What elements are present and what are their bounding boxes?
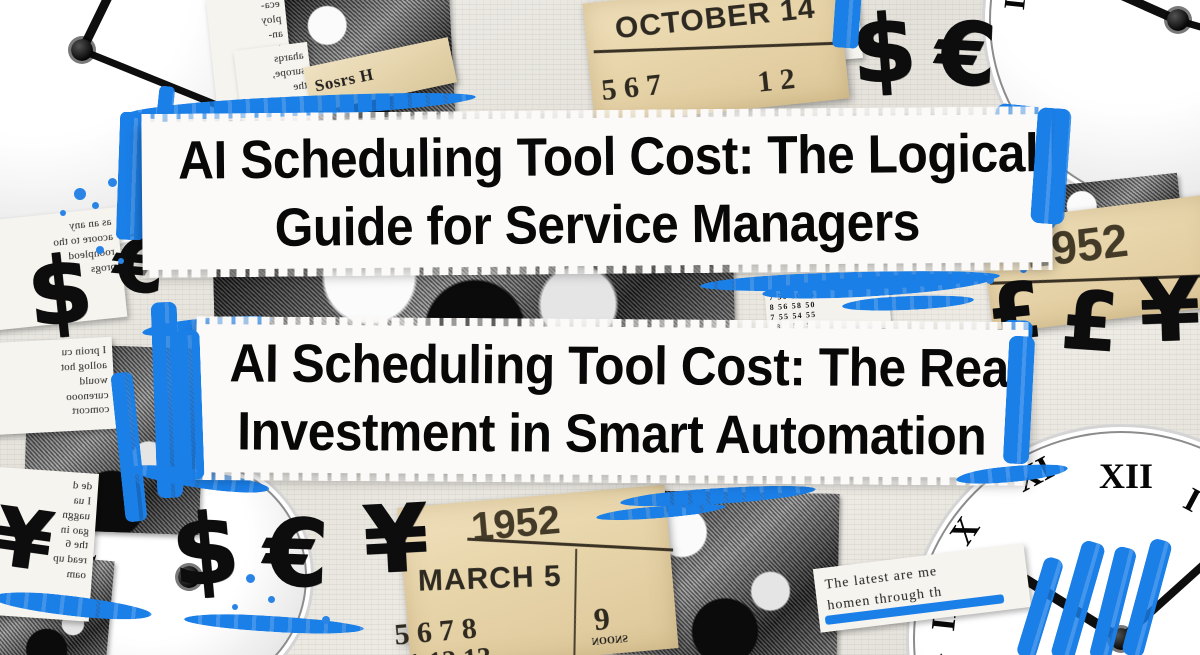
headline-secondary-line-2: Investment in Smart Automation: [229, 392, 995, 465]
pound-icon-right-b: £: [1059, 280, 1120, 364]
euro-icon-top-right: €: [934, 10, 998, 99]
headline-primary-line-1: AI Scheduling Tool Cost: The Logical: [178, 114, 1016, 189]
yen-icon-right: ¥: [1139, 267, 1200, 355]
headline-banner-secondary: AI Scheduling Tool Cost: The Real Invest…: [195, 324, 1028, 478]
paint-splatter: [118, 258, 124, 264]
clipping-left-col-b: I proin cu aollog hot would curenooo com…: [0, 337, 116, 435]
clock-center-hub: [71, 39, 93, 61]
clipping-text: I proin cu aollog hot would curenooo com…: [0, 343, 110, 423]
paint-splatter: [246, 574, 255, 583]
calendar-divider: [573, 549, 577, 655]
dollar-icon-bottom-left: $: [168, 499, 243, 600]
paint-splatter: [74, 188, 86, 200]
headline-banner-primary: AI Scheduling Tool Cost: The Logical Gui…: [141, 114, 1052, 270]
calendar-month-label: MARCH 5: [417, 560, 562, 599]
calendar-numbers-right: 1 2: [756, 62, 797, 100]
euro-icon-bottom-left: €: [262, 507, 329, 601]
paint-splatter: [322, 616, 330, 624]
paint-splatter: [60, 210, 66, 216]
collage-canvas: XII I II III IX X XI IIII XII I II XI X …: [0, 0, 1200, 655]
blue-marker-stroke: [832, 0, 862, 49]
paint-splatter: [232, 604, 238, 610]
yen-icon-bottom-left: ¥: [362, 492, 431, 587]
paint-splatter: [92, 202, 99, 209]
paint-splatter: [96, 246, 104, 254]
paint-splatter: [108, 178, 117, 187]
calendar-caption: NOONS: [591, 630, 629, 647]
headline-primary-line-2: Guide for Service Managers: [178, 182, 1016, 257]
calendar-numbers-left: 5 6 7: [600, 68, 663, 108]
clipping-text: aharqs surope, the: [239, 48, 308, 100]
headline-secondary-line-1: AI Scheduling Tool Cost: The Real: [229, 324, 995, 397]
dollar-icon-left-mid: $: [23, 243, 96, 341]
paint-splatter: [268, 596, 275, 603]
clock-numeral: IX: [998, 0, 1035, 12]
calendar-month-label: OCTOBER 14: [613, 0, 817, 46]
clock-numeral: XII: [1099, 455, 1153, 497]
clock-center-hub: [1167, 9, 1189, 31]
blue-marker-stroke: [173, 330, 204, 481]
